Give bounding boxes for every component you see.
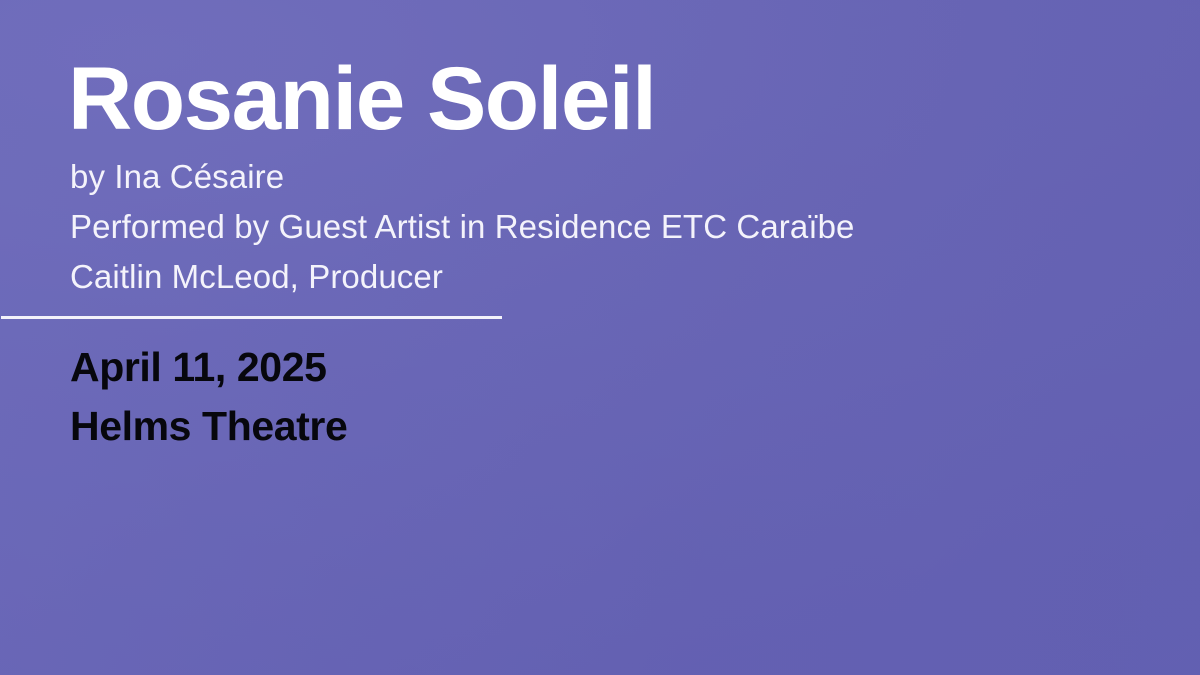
credit-line-performer: Performed by Guest Artist in Residence E… — [70, 202, 1130, 252]
credit-line-author: by Ina Césaire — [70, 152, 1130, 202]
credits-block: by Ina Césaire Performed by Guest Artist… — [70, 152, 1130, 302]
event-title-slide: Rosanie Soleil by Ina Césaire Performed … — [0, 0, 1200, 675]
event-title: Rosanie Soleil — [68, 54, 655, 143]
slide-content: Rosanie Soleil by Ina Césaire Performed … — [0, 0, 1200, 675]
credit-line-producer: Caitlin McLeod, Producer — [70, 252, 1130, 302]
event-venue: Helms Theatre — [70, 397, 347, 456]
details-block: April 11, 2025 Helms Theatre — [70, 338, 347, 456]
event-date: April 11, 2025 — [70, 338, 347, 397]
horizontal-divider — [1, 316, 502, 319]
